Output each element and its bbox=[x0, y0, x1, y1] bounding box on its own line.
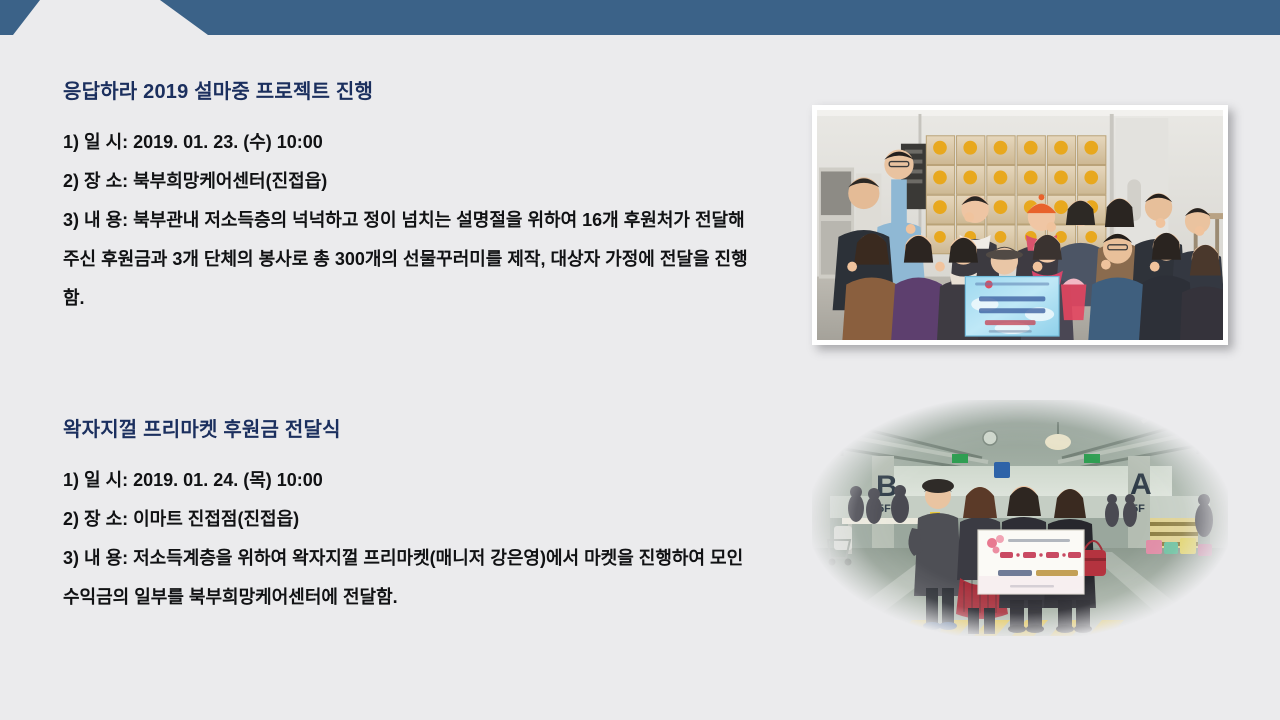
photo-1-image bbox=[817, 110, 1223, 340]
content-block-2: 왁자지껄 프리마켓 후원금 전달식 1) 일 시: 2019. 01. 24. … bbox=[0, 418, 800, 617]
section-1-title: 응답하라 2019 설마중 프로젝트 진행 bbox=[63, 80, 800, 105]
section-2-title: 왁자지껄 프리마켓 후원금 전달식 bbox=[63, 418, 800, 443]
list-item: 1) 일 시: 2019. 01. 24. (목) 10:00 bbox=[0, 461, 800, 500]
content-block-1: 응답하라 2019 설마중 프로젝트 진행 1) 일 시: 2019. 01. … bbox=[0, 80, 800, 318]
flea-market-donation-photo: B 5F A 5F bbox=[812, 400, 1228, 636]
header-decoration-band bbox=[0, 0, 1280, 35]
group-photo-gift-packages bbox=[812, 105, 1228, 345]
photo-2-image: B 5F A 5F bbox=[812, 400, 1228, 636]
list-item: 2) 장 소: 북부희망케어센터(진접읍) bbox=[0, 162, 800, 201]
section-1-detail-list: 1) 일 시: 2019. 01. 23. (수) 10:00 2) 장 소: … bbox=[0, 123, 800, 318]
list-item: 3) 내 용: 저소득계층을 위하여 왁자지껄 프리마켓(매니저 강은영)에서 … bbox=[0, 539, 800, 617]
section-2-detail-list: 1) 일 시: 2019. 01. 24. (목) 10:00 2) 장 소: … bbox=[0, 461, 800, 617]
photo-2-banner bbox=[978, 530, 1084, 594]
list-item: 1) 일 시: 2019. 01. 23. (수) 10:00 bbox=[0, 123, 800, 162]
slide-canvas: 응답하라 2019 설마중 프로젝트 진행 1) 일 시: 2019. 01. … bbox=[0, 0, 1280, 720]
list-item: 3) 내 용: 북부관내 저소득층의 넉넉하고 정이 넘치는 설명절을 위하여 … bbox=[0, 201, 800, 318]
list-item: 2) 장 소: 이마트 진접점(진접읍) bbox=[0, 500, 800, 539]
